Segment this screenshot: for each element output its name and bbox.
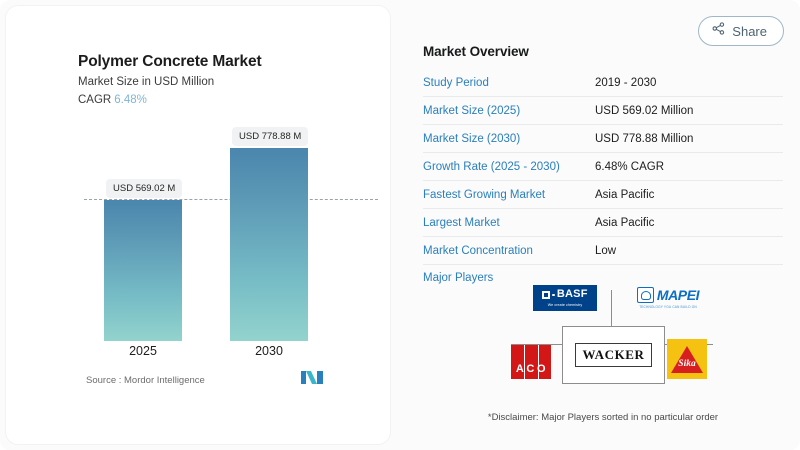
mapei-wordmark: MAPEI <box>657 288 699 302</box>
basf-logo-mark: BASF We create chemistry <box>533 285 597 311</box>
basf-dot-icon <box>552 294 555 297</box>
logo-basf: BASF We create chemistry <box>532 284 598 312</box>
mordor-intelligence-logo <box>301 371 323 389</box>
table-row: Market Concentration Low <box>423 237 783 265</box>
row-key: Market Concentration <box>423 245 595 257</box>
mapei-emblem-icon <box>637 287 654 303</box>
row-value: 2019 - 2030 <box>595 77 783 89</box>
connector-line-vertical <box>611 290 612 327</box>
source-row: Source : Mordor Intelligence <box>86 371 376 389</box>
row-value: 6.48% CAGR <box>595 161 783 173</box>
basf-square-icon <box>542 291 550 299</box>
bar-2030 <box>230 148 308 341</box>
table-row: Fastest Growing Market Asia Pacific <box>423 181 783 209</box>
table-row: Growth Rate (2025 - 2030) 6.48% CAGR <box>423 153 783 181</box>
logo-sika: Sika <box>664 336 710 382</box>
logo-aco: ACO <box>508 342 554 382</box>
source-text: Source : Mordor Intelligence <box>86 375 205 386</box>
wacker-wordmark: WACKER <box>582 347 644 362</box>
x-axis-tick-2025: 2025 <box>104 344 182 358</box>
row-value: USD 569.02 Million <box>595 105 783 117</box>
bar-label-2030: USD 778.88 M <box>232 127 308 146</box>
major-players-logo-cluster: BASF We create chemistry MAPEI TECHNOLOG… <box>500 282 724 392</box>
aco-logo-mark: ACO <box>511 345 551 379</box>
sika-logo-mark: Sika <box>667 339 707 379</box>
basf-wordmark-row: BASF <box>542 289 587 300</box>
disclaimer-text: *Disclaimer: Major Players sorted in no … <box>423 412 783 423</box>
row-value: Low <box>595 245 783 257</box>
row-key: Market Size (2030) <box>423 133 595 145</box>
basf-wordmark: BASF <box>557 289 588 300</box>
share-button-label: Share <box>732 25 767 38</box>
row-value: USD 778.88 Million <box>595 133 783 145</box>
row-key: Study Period <box>423 77 595 89</box>
row-key: Largest Market <box>423 217 595 229</box>
market-snapshot-page: Polymer Concrete Market Market Size in U… <box>0 0 800 450</box>
row-value: Asia Pacific <box>595 189 783 201</box>
sika-triangle-icon: Sika <box>671 346 703 373</box>
row-value: Asia Pacific <box>595 217 783 229</box>
logo-mapei: MAPEI TECHNOLOGY YOU CAN BUILD ON <box>626 285 710 311</box>
aco-wordmark: ACO <box>514 364 548 375</box>
bar-label-2025: USD 569.02 M <box>106 179 182 198</box>
table-row: Study Period 2019 - 2030 <box>423 69 783 97</box>
table-row: Market Size (2025) USD 569.02 Million <box>423 97 783 125</box>
row-key: Growth Rate (2025 - 2030) <box>423 161 595 173</box>
overview-title: Market Overview <box>423 44 783 59</box>
wacker-logo-mark: WACKER <box>575 343 651 367</box>
x-axis-tick-2030: 2030 <box>230 344 308 358</box>
mapei-logo-mark: MAPEI TECHNOLOGY YOU CAN BUILD ON <box>637 287 699 309</box>
sika-wordmark: Sika <box>677 360 697 370</box>
share-button[interactable]: Share <box>698 16 784 46</box>
row-key: Market Size (2025) <box>423 105 595 117</box>
major-players-label: Major Players <box>423 272 493 284</box>
mapei-tagline: TECHNOLOGY YOU CAN BUILD ON <box>639 305 697 309</box>
mapei-wordmark-row: MAPEI <box>637 287 699 303</box>
chart-card: Polymer Concrete Market Market Size in U… <box>6 6 390 444</box>
logo-wacker: WACKER <box>562 326 665 384</box>
table-row: Largest Market Asia Pacific <box>423 209 783 237</box>
market-overview-panel: Market Overview Study Period 2019 - 2030… <box>423 44 783 291</box>
bar-2025 <box>104 200 182 341</box>
row-key: Fastest Growing Market <box>423 189 595 201</box>
basf-tagline: We create chemistry <box>548 303 583 307</box>
table-row: Market Size (2030) USD 778.88 Million <box>423 125 783 153</box>
share-nodes-icon <box>712 22 725 40</box>
